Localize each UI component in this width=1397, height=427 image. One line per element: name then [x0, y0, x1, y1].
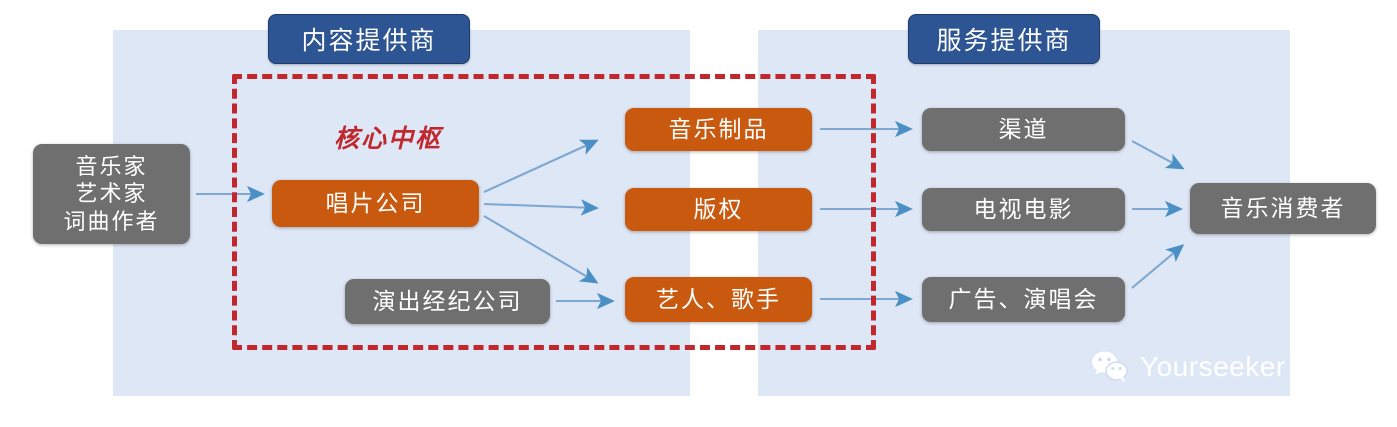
node-creators-line-1: 音乐家	[75, 153, 147, 181]
node-agency[interactable]: 演出经纪公司	[345, 279, 550, 324]
node-label-company[interactable]: 唱片公司	[272, 180, 479, 227]
node-artists-singers[interactable]: 艺人、歌手	[625, 277, 812, 322]
node-channel[interactable]: 渠道	[922, 108, 1125, 151]
header-content-provider[interactable]: 内容提供商	[268, 14, 470, 64]
node-ads-concerts-text: 广告、演唱会	[949, 285, 1099, 314]
node-copyright[interactable]: 版权	[625, 188, 812, 231]
node-tv-film[interactable]: 电视电影	[922, 188, 1125, 231]
node-channel-text: 渠道	[999, 115, 1049, 144]
node-music-consumer[interactable]: 音乐消费者	[1190, 183, 1376, 234]
node-music-products-text: 音乐制品	[669, 115, 769, 144]
node-music-consumer-text: 音乐消费者	[1221, 194, 1346, 223]
diagram-canvas: 内容提供商 服务提供商 核心中枢 音乐家 艺术家 词曲作者 唱片公司 演出经纪公…	[0, 0, 1397, 427]
wechat-icon	[1090, 350, 1130, 384]
wechat-credit-name: Yourseeker	[1140, 351, 1286, 383]
node-music-products[interactable]: 音乐制品	[625, 108, 812, 151]
node-agency-text: 演出经纪公司	[373, 287, 523, 316]
node-copyright-text: 版权	[694, 195, 744, 224]
node-artists-singers-text: 艺人、歌手	[656, 285, 781, 314]
node-creators[interactable]: 音乐家 艺术家 词曲作者	[33, 144, 190, 244]
wechat-credit: Yourseeker	[1090, 350, 1286, 384]
node-creators-line-2: 艺术家	[75, 180, 147, 208]
node-creators-line-3: 词曲作者	[63, 208, 159, 236]
header-content-provider-label: 内容提供商	[301, 21, 436, 57]
core-hub-annotation: 核心中枢	[334, 119, 442, 155]
header-service-provider-label: 服务提供商	[936, 21, 1071, 57]
header-service-provider[interactable]: 服务提供商	[908, 14, 1100, 64]
node-ads-concerts[interactable]: 广告、演唱会	[922, 277, 1125, 322]
node-label-company-text: 唱片公司	[326, 189, 426, 218]
node-tv-film-text: 电视电影	[974, 195, 1074, 224]
